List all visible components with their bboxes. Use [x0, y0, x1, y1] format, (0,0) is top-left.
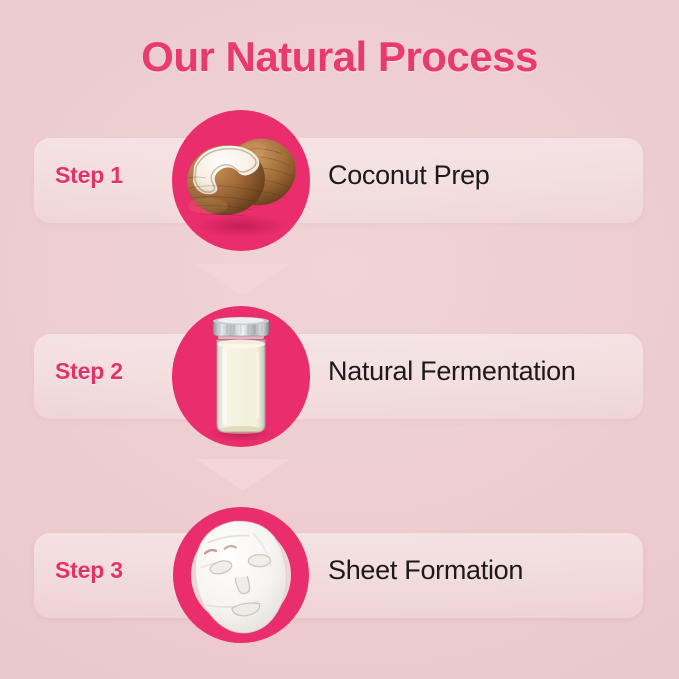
process-infographic: Our Natural Process Step 1 [0, 0, 679, 679]
arrow-step1-to-step2 [196, 264, 290, 296]
step-number-label: Step 2 [55, 358, 123, 385]
step-description: Sheet Formation [328, 555, 523, 586]
fermentation-jar-icon [172, 306, 310, 447]
page-title: Our Natural Process [0, 33, 679, 81]
step-number-label: Step 1 [55, 162, 123, 189]
process-step-3: Step 3 [0, 495, 679, 655]
process-step-2: Step 2 [0, 296, 679, 456]
coconut-icon [172, 110, 310, 251]
arrow-step2-to-step3 [196, 459, 290, 491]
process-step-1: Step 1 [0, 100, 679, 260]
step-number-label: Step 3 [55, 557, 123, 584]
step-description: Coconut Prep [328, 160, 490, 191]
sheet-mask-icon [172, 505, 310, 646]
step-description: Natural Fermentation [328, 356, 576, 387]
